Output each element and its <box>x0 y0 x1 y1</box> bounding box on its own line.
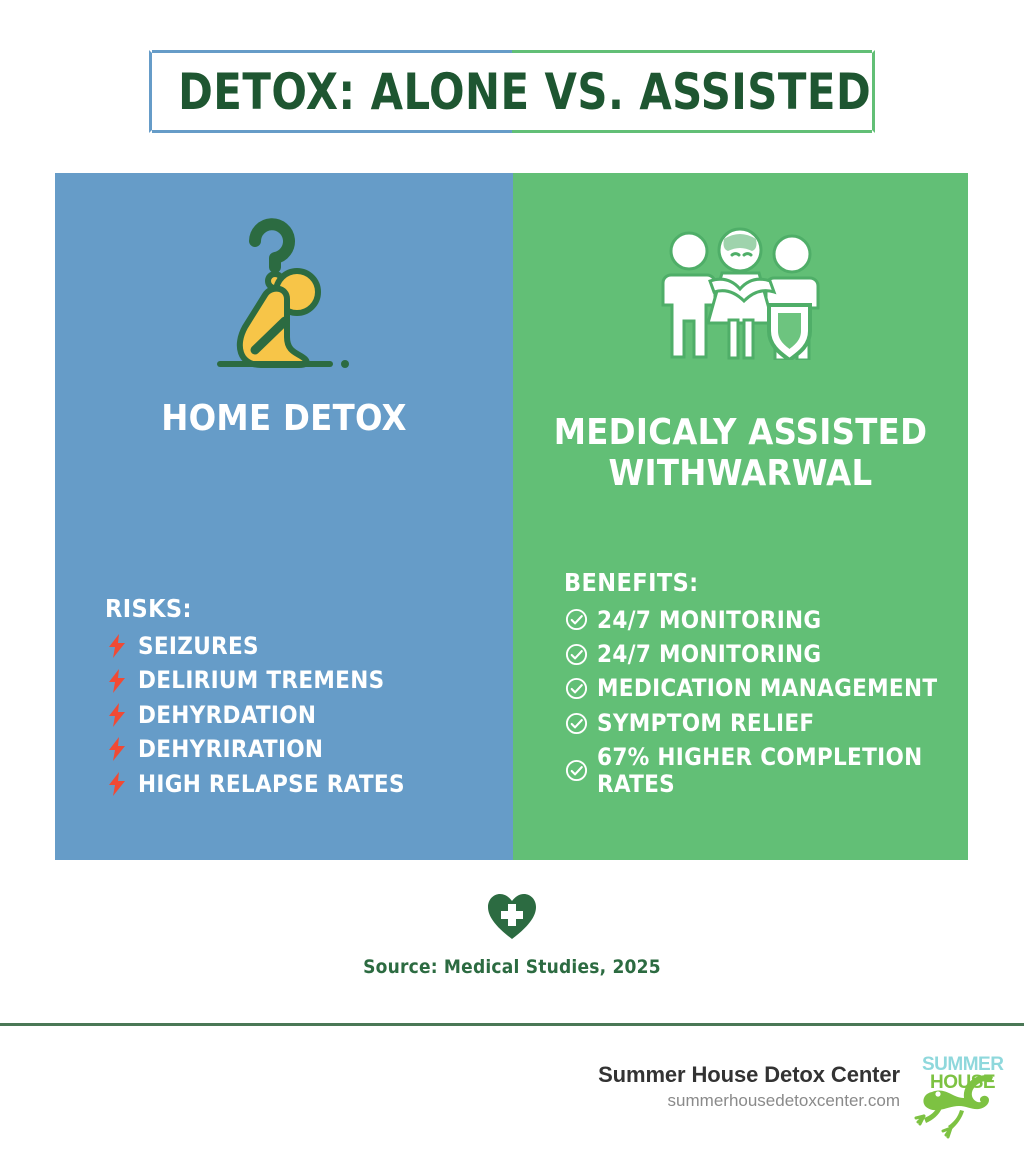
risks-list: SEIZURES DELIRIUM TREMENS DEHYRDATION <box>105 633 513 797</box>
lightning-bolt-icon <box>105 634 129 658</box>
panel-home-detox: HOME DETOX RISKS: SEIZURES DELIRIUM TREM… <box>55 173 513 860</box>
list-item: HIGH RELAPSE RATES <box>105 771 513 797</box>
risks-list-title: RISKS: <box>105 594 513 623</box>
list-item: 67% HIGHER COMPLETION RATES <box>564 744 968 797</box>
title-banner: DETOX: ALONE VS. ASSISTED <box>149 50 875 133</box>
panel-medically-assisted-icon-wrap <box>513 205 968 380</box>
footer-brand: Summer House Detox Center summerhousedet… <box>598 1062 900 1112</box>
panel-medically-assisted: MEDICALY ASSISTED WITHWARWAL BENEFITS: 2… <box>513 173 968 860</box>
lightning-bolt-icon <box>105 669 129 693</box>
panel-medically-assisted-list-block: BENEFITS: 24/7 MONITORING 24/7 MONITORIN… <box>513 568 968 860</box>
list-item-label: MEDICATION MANAGEMENT <box>597 675 937 701</box>
check-circle-icon <box>564 608 588 632</box>
lightning-bolt-icon <box>105 737 129 761</box>
title-border-bottom-right <box>512 130 872 133</box>
logo-word-house: HOUSE <box>930 1072 995 1093</box>
source-text: Source: Medical Studies, 2025 <box>0 956 1024 978</box>
list-item: DEHYRIRATION <box>105 736 513 762</box>
title-border-top-right <box>512 50 872 53</box>
panel-home-detox-heading: HOME DETOX <box>147 398 421 439</box>
check-circle-icon <box>564 642 588 666</box>
panel-heading-line-2: WITHWARWAL <box>554 453 928 494</box>
lightning-bolt-icon <box>105 703 129 727</box>
group-support-shield-icon <box>658 225 823 360</box>
person-sitting-question-icon <box>209 213 359 373</box>
list-item: 24/7 MONITORING <box>564 607 968 633</box>
page-title: DETOX: ALONE VS. ASSISTED <box>152 67 872 117</box>
list-item-label: DEHYRDATION <box>138 702 316 728</box>
panel-medically-assisted-heading: MEDICALY ASSISTED WITHWARWAL <box>540 412 942 494</box>
check-circle-icon <box>564 711 588 735</box>
list-item-label: SYMPTOM RELIEF <box>597 710 814 736</box>
panel-home-detox-icon-wrap <box>55 205 513 380</box>
check-circle-icon <box>564 677 588 701</box>
list-item: SEIZURES <box>105 633 513 659</box>
lightning-bolt-icon <box>105 772 129 796</box>
list-item: DELIRIUM TREMENS <box>105 667 513 693</box>
heart-medical-cross-icon <box>486 893 538 946</box>
list-item-label: SEIZURES <box>138 633 259 659</box>
benefits-list: 24/7 MONITORING 24/7 MONITORING MEDICATI… <box>564 607 968 797</box>
panel-heading-line-1: MEDICALY ASSISTED <box>554 412 928 453</box>
footer: Summer House Detox Center summerhousedet… <box>0 1026 1024 1154</box>
list-item: 24/7 MONITORING <box>564 641 968 667</box>
benefits-list-title: BENEFITS: <box>564 568 968 597</box>
list-item-label: 24/7 MONITORING <box>597 641 821 667</box>
list-item-label: 67% HIGHER COMPLETION RATES <box>597 744 968 797</box>
list-item: DEHYRDATION <box>105 702 513 728</box>
list-item: SYMPTOM RELIEF <box>564 710 968 736</box>
list-item: MEDICATION MANAGEMENT <box>564 675 968 701</box>
page-title-text: DETOX: ALONE VS. ASSISTED <box>178 67 871 117</box>
list-item-label: HIGH RELAPSE RATES <box>138 771 405 797</box>
check-circle-icon <box>564 759 588 783</box>
list-item-label: 24/7 MONITORING <box>597 607 821 633</box>
brand-name: Summer House Detox Center <box>598 1062 900 1088</box>
list-item-label: DEHYRIRATION <box>138 736 323 762</box>
summer-house-logo[interactable]: SUMMER HOUSE <box>908 1044 1008 1139</box>
source-block: Source: Medical Studies, 2025 <box>0 893 1024 978</box>
comparison-panels: HOME DETOX RISKS: SEIZURES DELIRIUM TREM… <box>55 173 968 860</box>
panel-home-detox-list-block: RISKS: SEIZURES DELIRIUM TREMENS <box>55 594 513 860</box>
list-item-label: DELIRIUM TREMENS <box>138 667 384 693</box>
brand-url[interactable]: summerhousedetoxcenter.com <box>598 1091 900 1111</box>
